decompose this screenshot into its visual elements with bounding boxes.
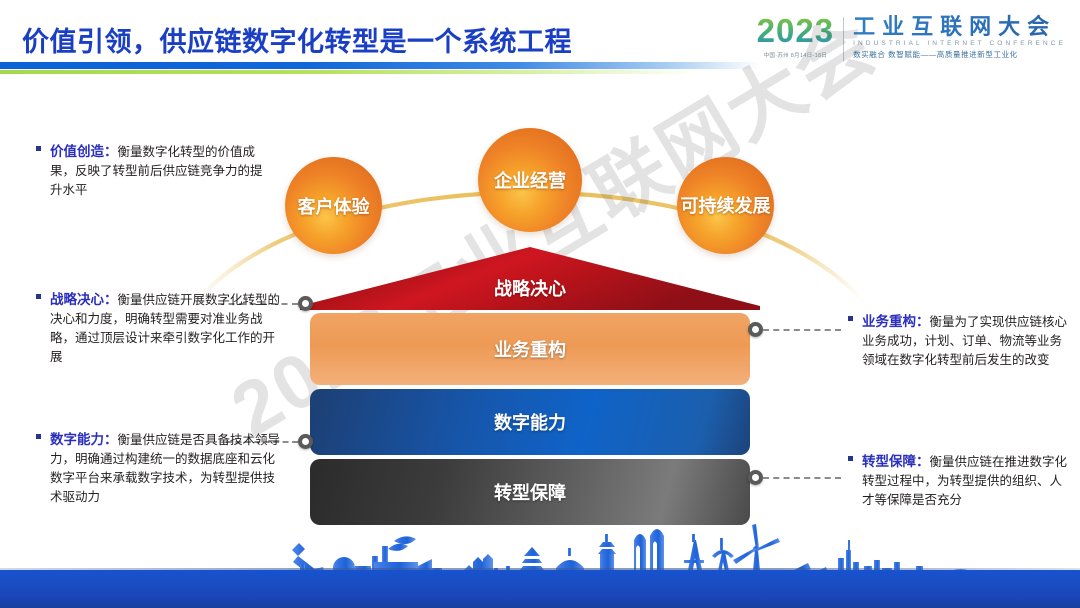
pyramid-layer-digital[interactable]: 数字能力	[310, 389, 750, 455]
bullet-square-icon	[36, 434, 41, 439]
note-strategic-determination-lead: 战略决心：	[50, 292, 118, 307]
logo-year-subtitle: 中国·苏州 8月14日-18日	[764, 51, 828, 59]
sea-band	[0, 570, 1080, 608]
connector-dot-reconstruct	[748, 322, 763, 337]
outcome-circle-sustainable-development[interactable]: 可持续发展	[677, 157, 774, 254]
note-strategic-determination-body: 战略决心：衡量供应链开展数字化转型的决心和力度，明确转型需要对准业务战略，通过顶…	[36, 290, 284, 367]
logo-tagline: 数实融合 数智赋能——高质量推进新型工业化	[853, 49, 1066, 60]
note-transformation-guarantee-lead: 转型保障：	[862, 454, 930, 469]
header-divider-green	[0, 70, 700, 74]
note-value-creation: 价值创造：衡量数字化转型的价值成果，反映了转型前后供应链竞争力的提升水平	[36, 142, 268, 200]
note-business-reconstruction-body: 业务重构：衡量为了实现供应链核心业务成功，计划、订单、物流等业务领域在数字化转型…	[848, 312, 1070, 370]
logo-year: 2023	[757, 14, 834, 48]
logo-year-group: 2023 中国·苏州 8月14日-18日	[757, 14, 843, 59]
note-digital-capability-body: 数字能力：衡量供应链是否具备技术领导力，明确通过构建统一的数据底座和云化数字平台…	[36, 430, 284, 507]
note-value-creation-lead: 价值创造：	[50, 144, 118, 159]
connector-dot-guarantee	[748, 470, 763, 485]
conference-logo: 2023 中国·苏州 8月14日-18日 工业互联网大会 INDUSTRIAL …	[757, 14, 1066, 66]
outcome-circle-enterprise-operation[interactable]: 企业经营	[478, 128, 582, 232]
note-transformation-guarantee-body: 转型保障：衡量供应链在推进数字化转型过程中，为转型提供的组织、人才等保障是否充分	[848, 452, 1070, 510]
note-business-reconstruction-lead: 业务重构：	[862, 314, 930, 329]
header-divider-blue	[0, 62, 760, 69]
pyramid-layer-business[interactable]: 业务重构	[310, 313, 750, 385]
pyramid-roof-label: 战略决心	[300, 275, 760, 301]
outcome-circle-customer-experience[interactable]: 客户体验	[285, 157, 382, 254]
bullet-square-icon	[36, 294, 41, 299]
note-strategic-determination: 战略决心：衡量供应链开展数字化转型的决心和力度，明确转型需要对准业务战略，通过顶…	[36, 290, 284, 367]
note-digital-capability: 数字能力：衡量供应链是否具备技术领导力，明确通过构建统一的数据底座和云化数字平台…	[36, 430, 284, 507]
connector-line-guarantee	[763, 477, 841, 479]
note-digital-capability-lead: 数字能力：	[50, 432, 118, 447]
page-title: 价值引领，供应链数字化转型是一个系统工程	[22, 20, 572, 59]
note-value-creation-body: 价值创造：衡量数字化转型的价值成果，反映了转型前后供应链竞争力的提升水平	[36, 142, 268, 200]
connector-line-reconstruct	[763, 329, 841, 331]
connector-dot-capability	[298, 434, 313, 449]
logo-name-en: INDUSTRIAL INTERNET CONFERENCE	[853, 39, 1066, 49]
pyramid-layer-safeguard[interactable]: 转型保障	[310, 459, 750, 525]
bullet-square-icon	[848, 316, 853, 321]
connector-dot-strategy	[298, 296, 313, 311]
note-transformation-guarantee: 转型保障：衡量供应链在推进数字化转型过程中，为转型提供的组织、人才等保障是否充分	[848, 452, 1070, 510]
bullet-square-icon	[848, 456, 853, 461]
logo-name-group: 工业互联网大会 INDUSTRIAL INTERNET CONFERENCE 数…	[844, 14, 1066, 60]
note-business-reconstruction: 业务重构：衡量为了实现供应链核心业务成功，计划、订单、物流等业务领域在数字化转型…	[848, 312, 1070, 370]
logo-name-cn: 工业互联网大会	[853, 14, 1066, 39]
slide-canvas: 价值引领，供应链数字化转型是一个系统工程 2023 中国·苏州 8月14日-18…	[0, 0, 1080, 608]
bullet-square-icon	[36, 146, 41, 151]
